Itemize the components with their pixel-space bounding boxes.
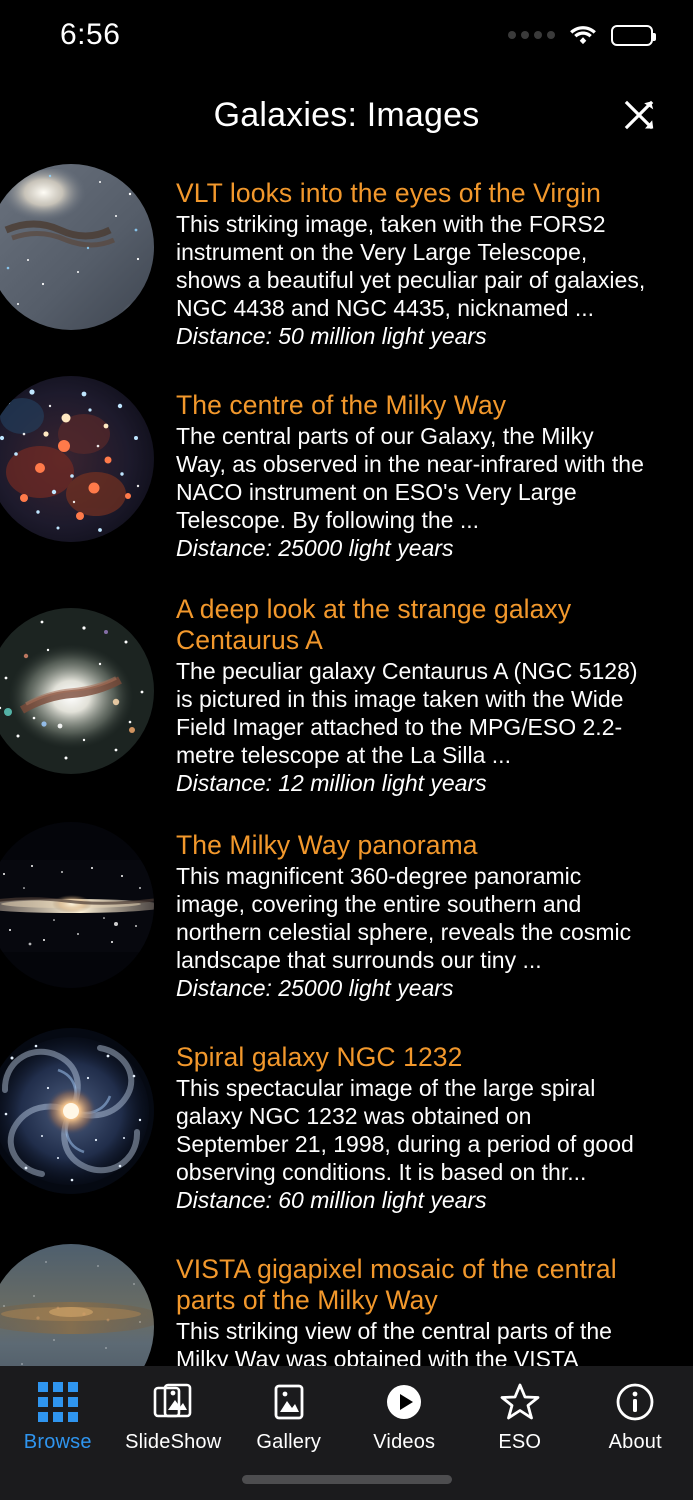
list-item-description: This magnificent 360-degree panoramic im… [176,862,649,974]
tab-browse-label: Browse [24,1431,92,1454]
shuffle-icon[interactable] [611,87,667,143]
star-icon [500,1380,540,1424]
list-item-description: This striking image, taken with the FORS… [176,210,649,322]
list-item-title[interactable]: The centre of the Milky Way [176,390,649,421]
tab-gallery-label: Gallery [256,1431,321,1454]
play-icon [384,1380,424,1424]
tab-videos[interactable]: Videos [347,1380,462,1454]
info-icon [615,1380,655,1424]
list-item-description: The central parts of our Galaxy, the Mil… [176,422,649,534]
status-bar: 6:56 [0,0,693,70]
list-item-title[interactable]: The Milky Way panorama [176,830,649,861]
list-item[interactable]: The Milky Way panorama This magnificent … [0,812,693,1024]
thumbnail-container [0,1236,176,1366]
status-time: 6:56 [60,18,120,52]
signal-dots-icon [508,31,555,39]
tab-slideshow[interactable]: SlideShow [116,1380,231,1454]
list-item-distance: Distance: 50 million light years [176,322,649,350]
wifi-icon [569,25,597,45]
list-item[interactable]: VLT looks into the eyes of the Virgin Th… [0,160,693,372]
list-item-distance: Distance: 25000 light years [176,534,649,562]
tab-gallery[interactable]: Gallery [231,1380,346,1454]
tab-eso[interactable]: ESO [462,1380,577,1454]
list-item-description: This spectacular image of the large spir… [176,1074,649,1186]
tab-videos-label: Videos [373,1431,435,1454]
grid-icon [38,1380,78,1424]
list-item[interactable]: The centre of the Milky Way The central … [0,372,693,584]
list-item-text: The Milky Way panorama This magnificent … [176,812,693,1002]
list-item-text: A deep look at the strange galaxy Centau… [176,584,693,797]
tab-slideshow-label: SlideShow [125,1431,221,1454]
thumbnail-container [0,1024,176,1224]
thumbnail-container [0,160,176,360]
list-item-description: This striking view of the central parts … [176,1317,649,1366]
list-item[interactable]: A deep look at the strange galaxy Centau… [0,584,693,812]
thumbnail-container [0,372,176,572]
thumbnail-container [0,584,176,784]
thumbnail-vlt-eyes-of-the-virgin[interactable] [0,164,154,330]
list-item-distance: Distance: 12 million light years [176,769,649,797]
status-indicators [508,25,653,46]
page-title: Galaxies: Images [214,96,480,135]
list-item-text: VISTA gigapixel mosaic of the central pa… [176,1236,693,1366]
list-item-distance: Distance: 25000 light years [176,974,649,1002]
tab-bar: Browse SlideShow Gallery [0,1366,693,1500]
thumbnail-ngc-1232[interactable] [0,1028,154,1194]
thumbnail-centre-of-the-milky-way[interactable] [0,376,154,542]
list-item-text: Spiral galaxy NGC 1232 This spectacular … [176,1024,693,1214]
tab-browse[interactable]: Browse [0,1380,115,1454]
tab-eso-label: ESO [498,1431,541,1454]
thumbnail-milky-way-panorama[interactable] [0,822,154,988]
list-item[interactable]: Spiral galaxy NGC 1232 This spectacular … [0,1024,693,1236]
list-item-title[interactable]: A deep look at the strange galaxy Centau… [176,594,649,656]
list-item-text: VLT looks into the eyes of the Virgin Th… [176,160,693,350]
thumbnail-vista-gigapixel-mosaic[interactable] [0,1244,154,1366]
list-item-text: The centre of the Milky Way The central … [176,372,693,562]
list-item[interactable]: VISTA gigapixel mosaic of the central pa… [0,1236,693,1366]
tab-about-label: About [609,1431,662,1454]
list-item-title[interactable]: VISTA gigapixel mosaic of the central pa… [176,1254,649,1316]
tab-about[interactable]: About [578,1380,693,1454]
list-item-title[interactable]: VLT looks into the eyes of the Virgin [176,178,649,209]
battery-full-icon [611,25,653,46]
slideshow-icon [153,1380,193,1424]
thumbnail-container [0,812,176,1012]
image-list[interactable]: VLT looks into the eyes of the Virgin Th… [0,160,693,1366]
gallery-icon [269,1380,309,1424]
thumbnail-centaurus-a[interactable] [0,608,154,774]
list-item-description: The peculiar galaxy Centaurus A (NGC 512… [176,657,649,769]
home-indicator[interactable] [242,1475,452,1484]
list-item-distance: Distance: 60 million light years [176,1186,649,1214]
list-item-title[interactable]: Spiral galaxy NGC 1232 [176,1042,649,1073]
navigation-bar: Galaxies: Images [0,70,693,160]
